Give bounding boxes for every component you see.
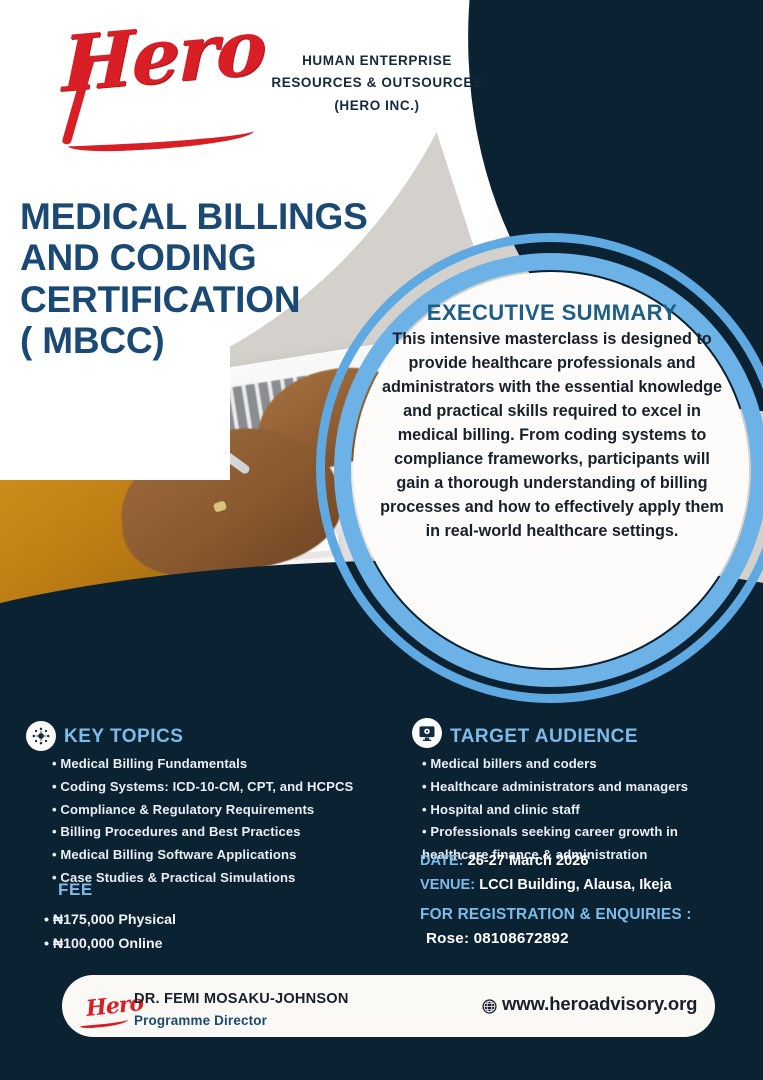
company-line-3: (HERO INC.) [262,95,492,117]
brand-logo: Hero [62,18,262,168]
monitor-gear-icon [417,723,437,743]
key-topics-heading: KEY TOPICS [64,726,183,748]
footer-person-name: DR. FEMI MOSAKU-JOHNSON [134,991,349,1007]
page-title: MEDICAL BILLINGS AND CODING CERTIFICATIO… [20,196,420,362]
logo-underline-swash [68,123,255,154]
executive-summary-block: EXECUTIVE SUMMARY This intensive masterc… [380,300,724,544]
title-line-3: CERTIFICATION [20,279,420,320]
globe-icon [481,998,498,1020]
key-topics-item: • Compliance & Regulatory Requirements [52,799,353,822]
target-audience-badge [412,718,442,748]
fee-heading: FEE [58,880,93,900]
target-audience-item: • Medical billers and coders [422,753,688,776]
event-details: DATE: 26-27 March 2026 VENUE: LCCI Build… [420,850,672,897]
event-venue-row: VENUE: LCCI Building, Alausa, Ikeja [420,874,672,898]
radial-burst-icon [31,726,51,746]
date-label: DATE [420,853,459,869]
key-topics-item: • Medical Billing Fundamentals [52,753,353,776]
registration-contact[interactable]: Rose: 08108672892 [426,930,692,947]
fee-list: • ₦175,000 Physical• ₦100,000 Online [44,908,176,956]
target-audience-item: • Hospital and clinic staff [422,799,688,822]
key-topics-item: • Coding Systems: ICD-10-CM, CPT, and HC… [52,776,353,799]
poster-canvas: Hero HUMAN ENTERPRISE RESOURCES & OUTSOU… [0,0,763,1080]
title-line-2: AND CODING [20,237,420,278]
registration-block: FOR REGISTRATION & ENQUIRIES : Rose: 081… [420,906,692,947]
key-topics-item: • Case Studies & Practical Simulations [52,867,353,890]
key-topics-badge [26,721,56,751]
company-line-1: HUMAN ENTERPRISE [262,50,492,72]
key-topics-item: • Medical Billing Software Applications [52,844,353,867]
registration-heading: FOR REGISTRATION & ENQUIRIES : [420,906,692,923]
title-line-1: MEDICAL BILLINGS [20,196,420,237]
company-name-block: HUMAN ENTERPRISE RESOURCES & OUTSOURCES … [262,50,492,117]
footer-person-role: Programme Director [134,1013,267,1028]
executive-summary-heading: EXECUTIVE SUMMARY [380,300,724,326]
executive-summary-body: This intensive masterclass is designed t… [380,328,724,544]
company-line-2: RESOURCES & OUTSOURCES [262,72,492,94]
fee-item: • ₦100,000 Online [44,932,176,956]
target-audience-heading: TARGET AUDIENCE [450,726,638,748]
key-topics-item: • Billing Procedures and Best Practices [52,821,353,844]
target-audience-item: • Professionals seeking career growth in [422,821,688,844]
date-value: 26-27 March 2026 [468,853,589,869]
venue-label: VENUE [420,877,470,893]
fee-item: • ₦175,000 Physical [44,908,176,932]
title-line-4: ( MBCC) [20,320,420,361]
target-audience-item: • Healthcare administrators and managers [422,776,688,799]
key-topics-list: • Medical Billing Fundamentals• Coding S… [52,753,353,890]
venue-value: LCCI Building, Alausa, Ikeja [479,877,671,893]
footer-website[interactable]: www.heroadvisory.org [502,993,697,1015]
event-date-row: DATE: 26-27 March 2026 [420,850,672,874]
